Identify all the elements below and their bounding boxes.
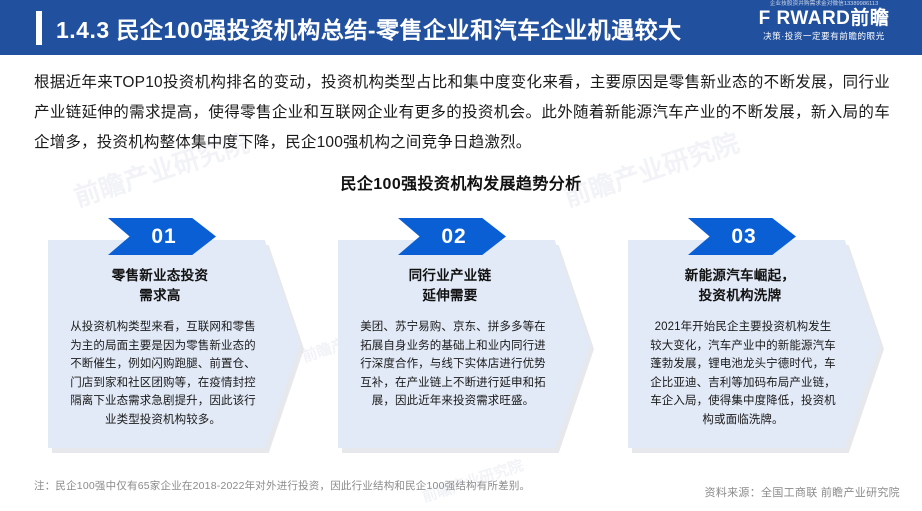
brand-logo: 企业技股资并购需求金对微信13389986113 F RWARD前瞻 决策·投资…	[734, 0, 914, 42]
trend-card[interactable]: 01 零售新业态投资 需求高 从投资机构类型来看，互联网和零售为主的局面主要是因…	[48, 240, 300, 448]
card-title-line1: 同行业产业链	[344, 266, 556, 286]
card-title-line2: 需求高	[54, 286, 266, 306]
card-description: 2021年开始民企主要投资机构发生较大变化，汽车产业中的新能源汽车蓬勃发展，锂电…	[650, 318, 836, 429]
card-title-line2: 投资机构洗牌	[634, 286, 846, 306]
footer-source: 资料来源：全国工商联 前瞻产业研究院	[705, 484, 900, 500]
trend-card[interactable]: 03 新能源汽车崛起， 投资机构洗牌 2021年开始民企主要投资机构发生较大变化…	[628, 240, 880, 448]
intro-paragraph: 根据近年来TOP10投资机构排名的变动，投资机构类型占比和集中度变化来看，主要原…	[34, 68, 890, 158]
card-number: 02	[441, 225, 466, 249]
trend-card[interactable]: 02 同行业产业链 延伸需要 美团、苏宁易购、京东、拼多多等在拓展自身业务的基础…	[338, 240, 590, 448]
card-title: 同行业产业链 延伸需要	[344, 266, 556, 306]
card-title-line1: 新能源汽车崛起，	[634, 266, 846, 286]
logo-contact-text: 企业技股资并购需求金对微信13389986113	[739, 0, 910, 8]
card-title: 新能源汽车崛起， 投资机构洗牌	[634, 266, 846, 306]
card-number: 03	[731, 225, 756, 249]
cards-container: 01 零售新业态投资 需求高 从投资机构类型来看，互联网和零售为主的局面主要是因…	[0, 218, 922, 458]
header-accent-bar	[36, 11, 42, 45]
card-number: 01	[151, 225, 176, 249]
logo-tagline: 决策·投资一定要有前瞻的眼光	[734, 30, 914, 42]
card-title: 零售新业态投资 需求高	[54, 266, 266, 306]
logo-brand-text: F RWARD前瞻	[734, 8, 914, 30]
footer-note: 注：民企100强中仅有65家企业在2018-2022年对外进行投资，因此行业结构…	[34, 478, 534, 494]
card-title-line2: 延伸需要	[344, 286, 556, 306]
card-title-line1: 零售新业态投资	[54, 266, 266, 286]
page-title: 1.4.3 民企100强投资机构总结-零售企业和汽车企业机遇较大	[56, 11, 682, 45]
card-description: 从投资机构类型来看，互联网和零售为主的局面主要是因为零售新业态的不断催生，例如闪…	[70, 318, 256, 429]
card-description: 美团、苏宁易购、京东、拼多多等在拓展自身业务的基础上和业内同行进行深度合作，与线…	[360, 318, 546, 411]
section-title: 民企100强投资机构发展趋势分析	[0, 170, 922, 194]
